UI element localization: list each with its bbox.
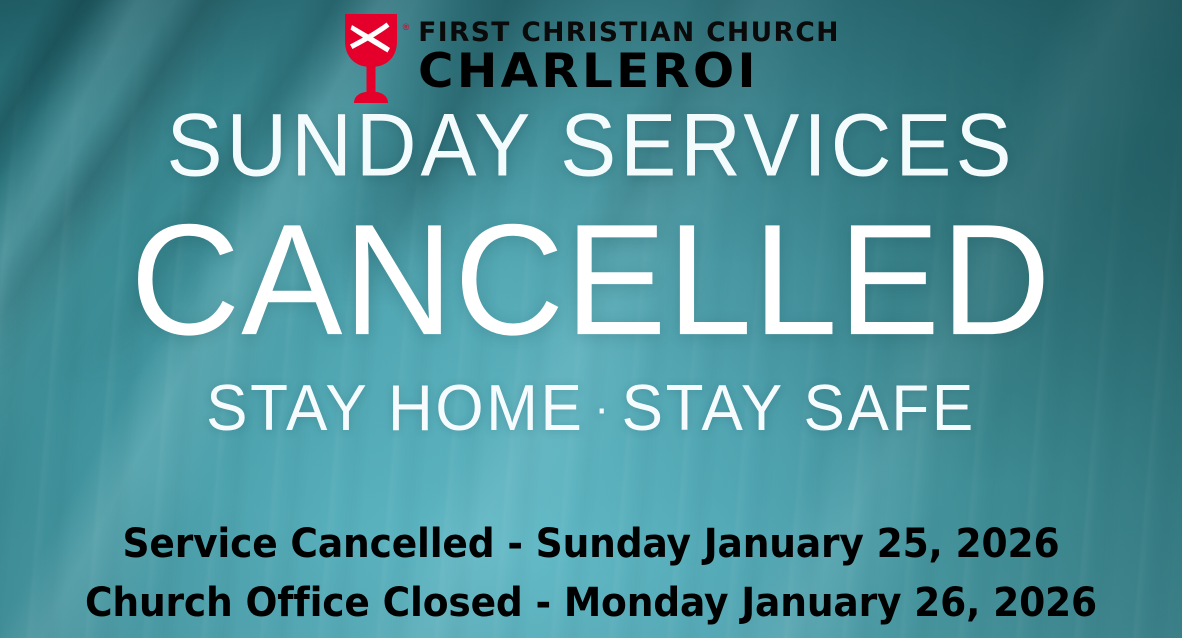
schedule-notice-group: Service Cancelled - Sunday January 25, 2… [0, 515, 1182, 632]
notice-service-cancelled-date: Service Cancelled - Sunday January 25, 2… [35, 515, 1146, 573]
brand-name-line-2: CHARLEROI [418, 48, 759, 95]
cancellation-announcement-poster: ® FIRST CHRISTIAN CHURCH CHARLEROI SUNDA… [0, 0, 1182, 638]
notice-office-closed-date: Church Office Closed - Monday January 26… [35, 574, 1146, 632]
stay-home-text: STAY HOME [206, 373, 584, 445]
chalice-with-st-andrews-cross-icon: ® [342, 11, 400, 103]
registered-trademark-mark: ® [403, 23, 410, 32]
headline-cancelled: CANCELLED [0, 201, 1182, 359]
church-logo-lockup: ® FIRST CHRISTIAN CHURCH CHARLEROI [0, 8, 1182, 106]
cancellation-headline-group: SUNDAY SERVICES CANCELLED STAY HOME·STAY… [0, 104, 1182, 440]
headline-sunday-services: SUNDAY SERVICES [0, 102, 1182, 189]
middle-dot-separator-icon: · [584, 383, 621, 434]
brand-wordmark: FIRST CHRISTIAN CHURCH CHARLEROI [418, 19, 840, 96]
stay-safe-text: STAY SAFE [622, 373, 976, 445]
brand-name-line-1: FIRST CHRISTIAN CHURCH [418, 19, 840, 47]
headline-stay-home-stay-safe: STAY HOME·STAY SAFE [0, 377, 1182, 442]
